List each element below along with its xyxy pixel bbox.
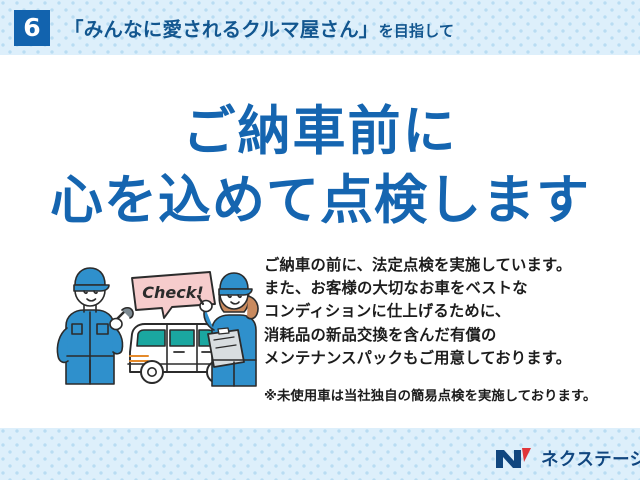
speech-bubble-text: Check!: [142, 283, 203, 302]
content-area: ご納車前に 心を込めて点検します: [0, 55, 640, 428]
header-title-main: 「みんなに愛されるクルマ屋さん」: [64, 13, 379, 42]
headline-line-2: 心を込めて点検します: [0, 158, 640, 234]
header: 6 「みんなに愛されるクルマ屋さん」 を目指して: [0, 0, 640, 55]
description-line-3: コンディションに仕上げるために、: [264, 300, 624, 323]
header-title: 「みんなに愛されるクルマ屋さん」 を目指して: [64, 13, 454, 42]
brand-logo: ネクステージ: [494, 444, 640, 472]
description-line-2: また、お客様の大切なお車をベストな: [264, 277, 624, 300]
mechanics-van-illustration: Check!: [52, 260, 267, 400]
step-number-badge: 6: [14, 10, 50, 46]
header-title-suffix: を目指して: [379, 20, 455, 41]
description-paragraph: ご納車の前に、法定点検を実施しています。 また、お客様の大切なお車をベストな コ…: [264, 254, 624, 370]
description-note: ※未使用車は当社独自の簡易点検を実施しております。: [264, 385, 634, 404]
nextage-n-mark-icon: [494, 446, 534, 470]
headline-line-1: ご納車前に: [0, 89, 640, 165]
description-line-1: ご納車の前に、法定点検を実施しています。: [264, 254, 624, 277]
brand-name: ネクステージ: [541, 446, 640, 471]
description-line-5: メンテナンスパックもご用意しております。: [264, 347, 624, 370]
promo-card: 6 「みんなに愛されるクルマ屋さん」 を目指して ご納車前に 心を込めて点検しま…: [0, 0, 640, 480]
description-line-4: 消耗品の新品交換を含んだ有償の: [264, 324, 624, 347]
